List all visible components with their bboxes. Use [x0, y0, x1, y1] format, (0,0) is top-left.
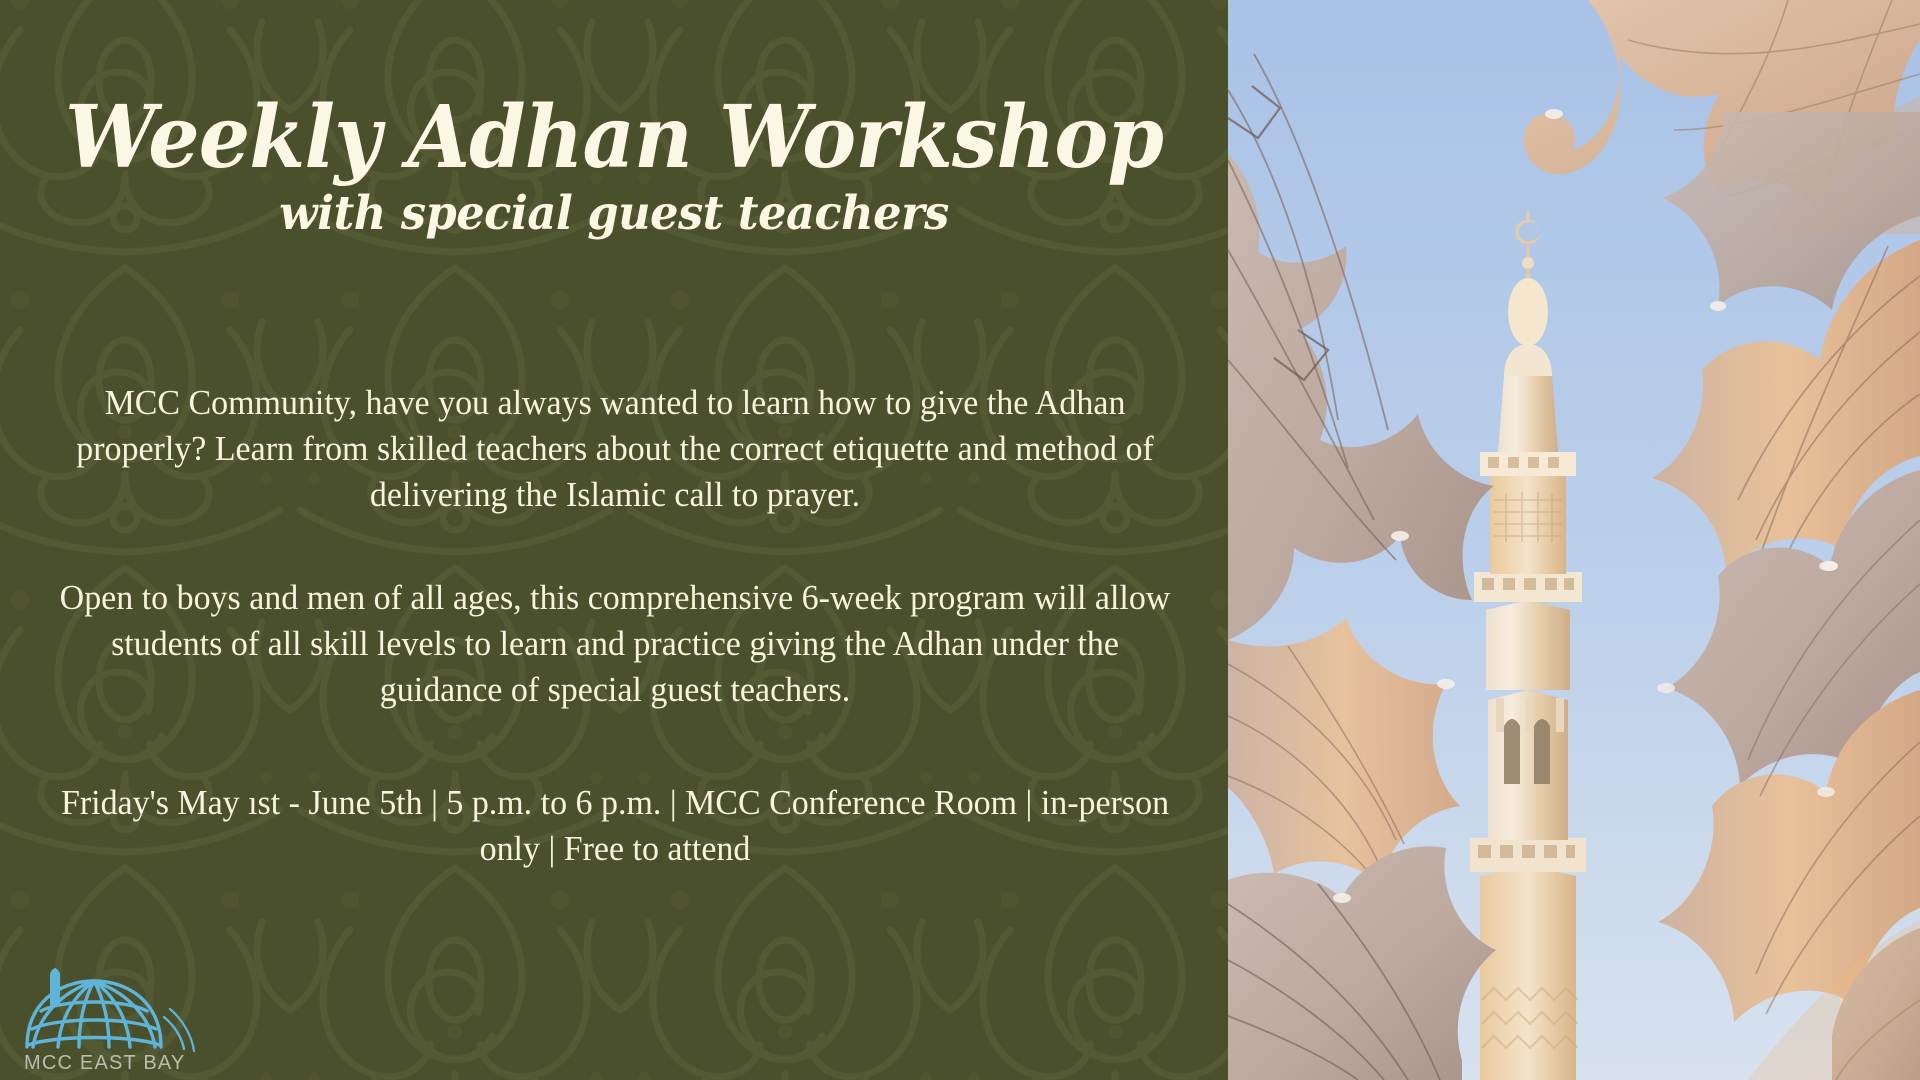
poster-canvas: Weekly Adhan Workshop with special guest… [0, 0, 1920, 1080]
mcc-east-bay-logo: MCC EAST BAY [14, 959, 204, 1074]
green-content-panel: Weekly Adhan Workshop with special guest… [0, 0, 1228, 1080]
event-details-line: Friday's May ıst - June 5th | 5 p.m. to … [57, 780, 1173, 872]
masjid-an-nabawi-photo [1228, 0, 1920, 1080]
event-details-block: Friday's May ıst - June 5th | 5 p.m. to … [40, 780, 1190, 872]
page-title: Weekly Adhan Workshop [37, 96, 1191, 180]
paragraph-intro: MCC Community, have you always wanted to… [57, 380, 1173, 519]
page-subtitle: with special guest teachers [31, 190, 1198, 237]
title-block: Weekly Adhan Workshop with special guest… [0, 96, 1228, 237]
globe-minaret-icon [27, 968, 194, 1051]
paragraph-program: Open to boys and men of all ages, this c… [57, 575, 1173, 714]
body-copy-block: MCC Community, have you always wanted to… [40, 380, 1190, 713]
logo-wordmark: MCC EAST BAY [24, 1052, 185, 1074]
